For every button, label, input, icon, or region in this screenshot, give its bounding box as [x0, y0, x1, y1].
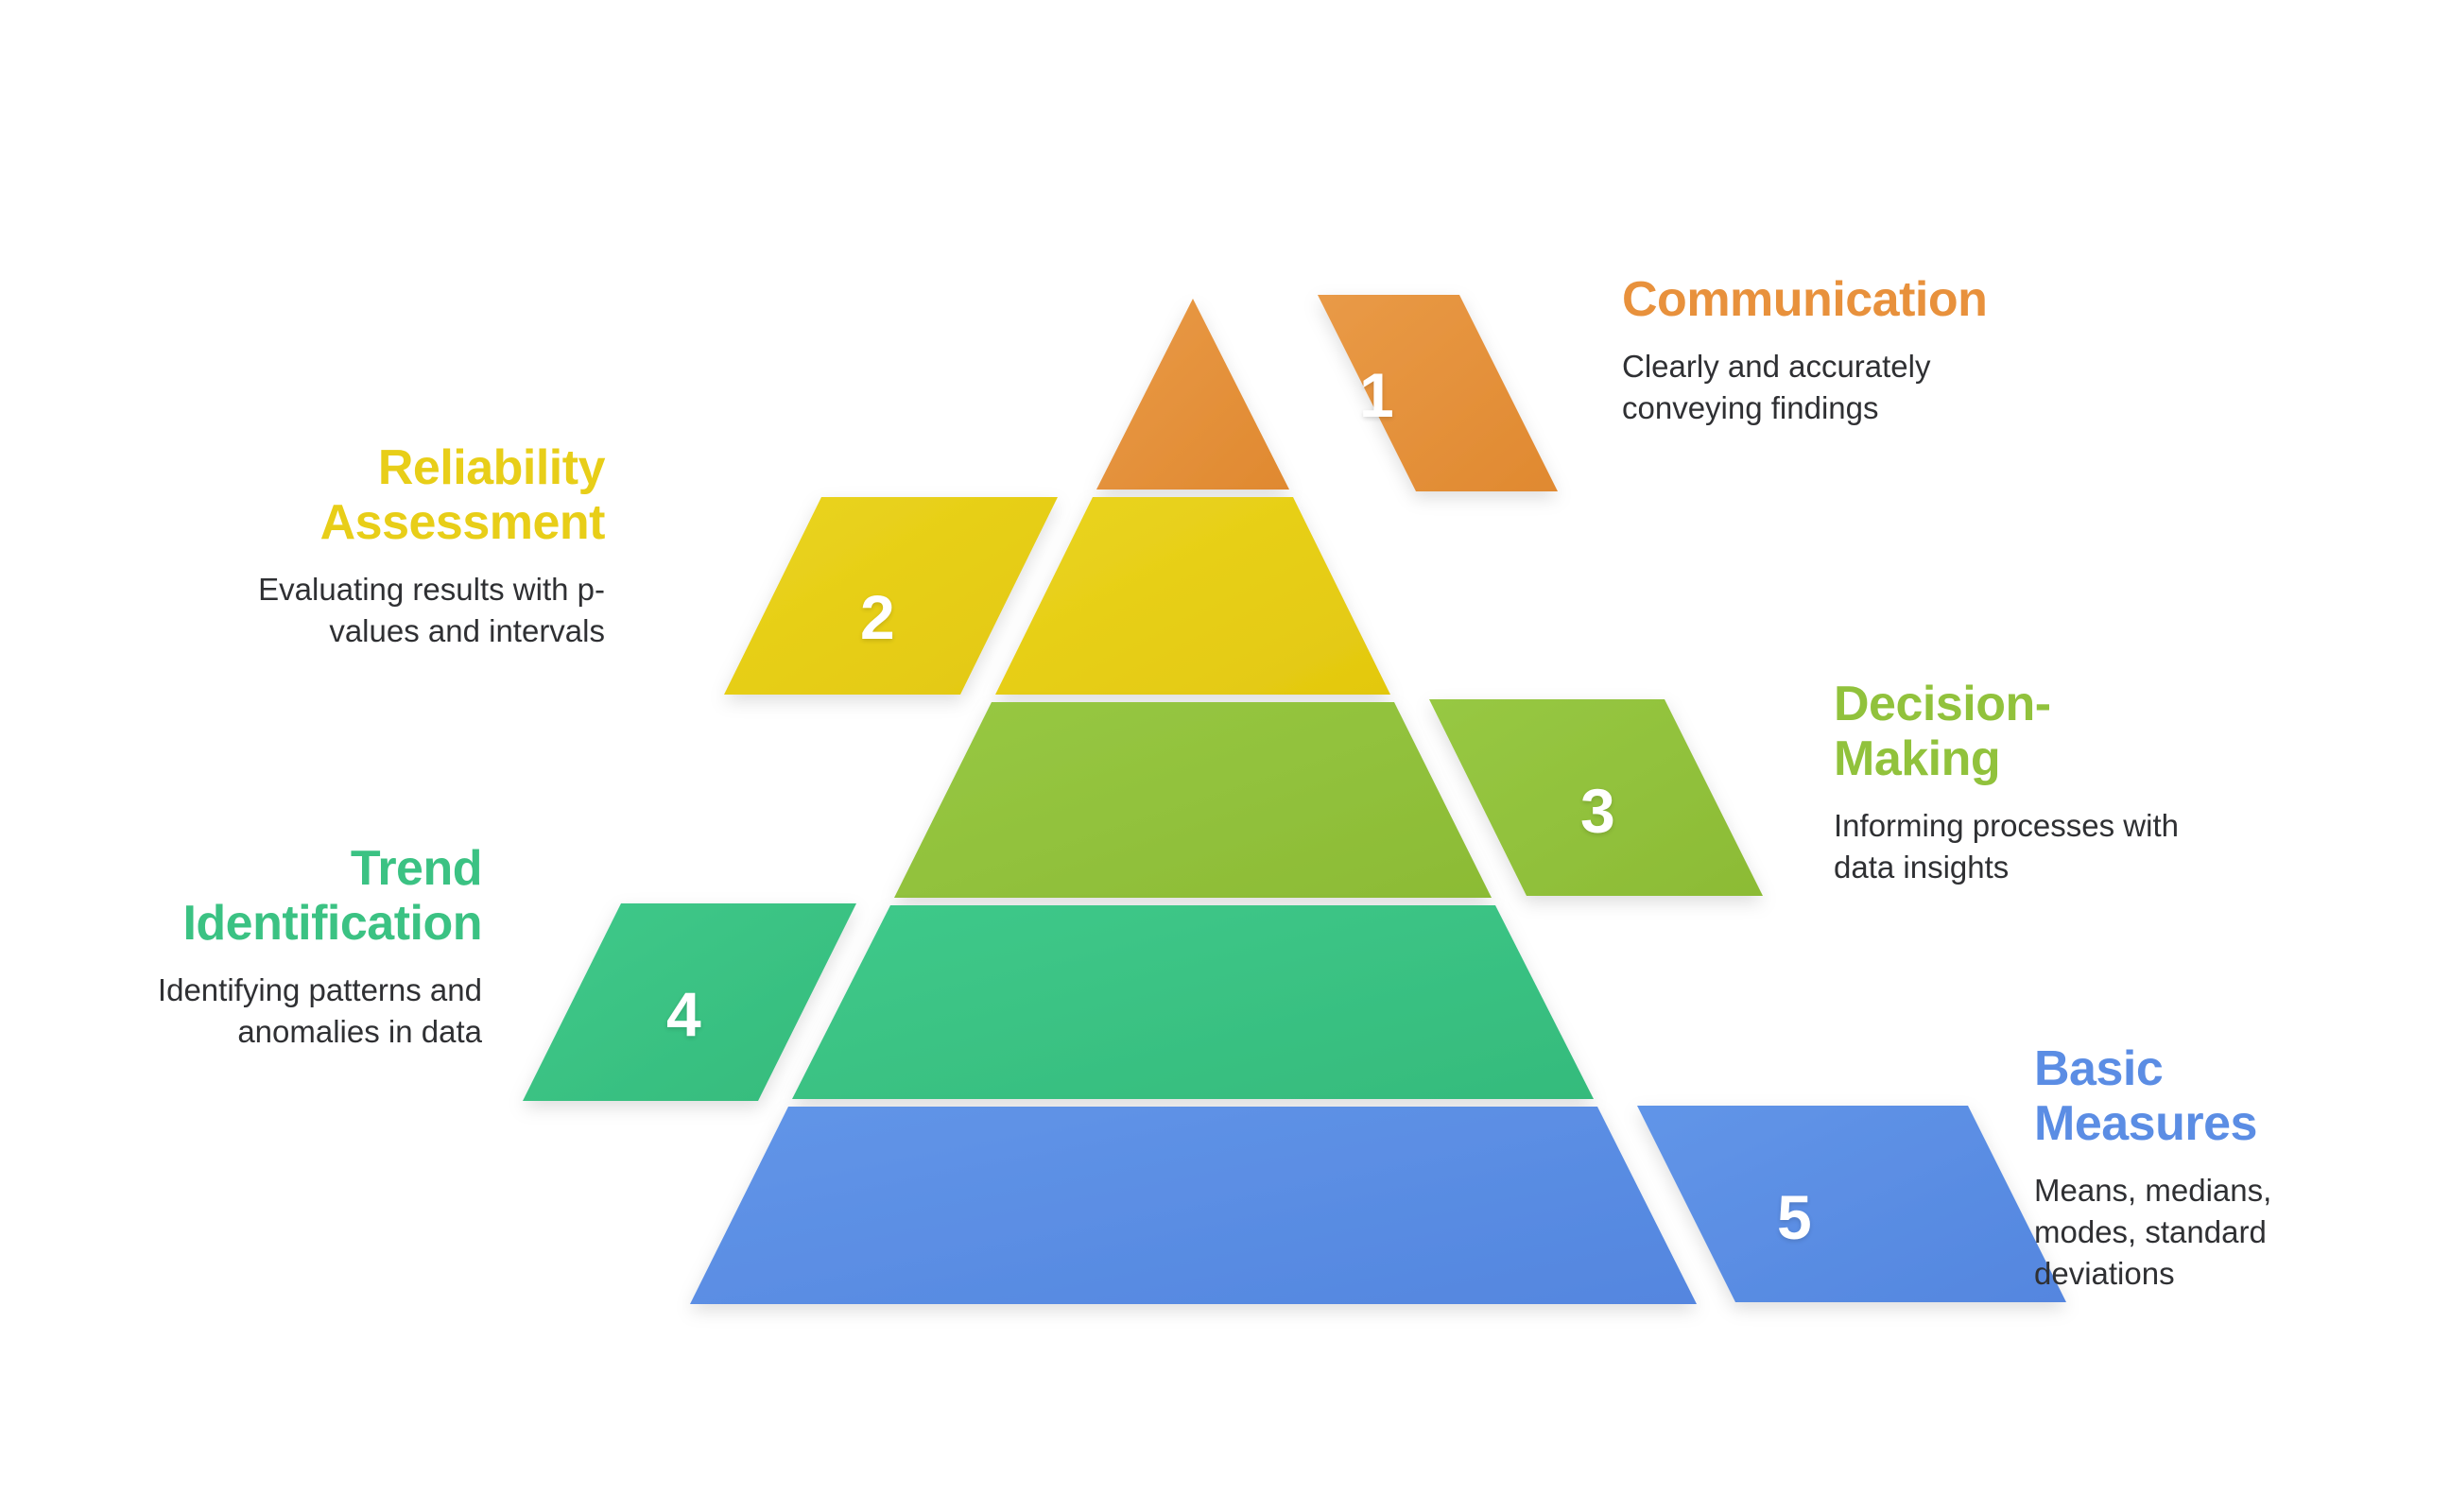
callout-title-1: Communication — [1622, 272, 2028, 327]
callout-description-4: Identifying patterns and anomalies in da… — [112, 970, 482, 1052]
callout-shape-1[interactable] — [1318, 295, 1558, 491]
callout-description-5: Means, medians, modes, standard deviatio… — [2034, 1170, 2346, 1294]
step-number-5: 5 — [1777, 1186, 1812, 1248]
pyramid-slice-2 — [995, 497, 1390, 695]
callout-shape-5[interactable] — [1637, 1106, 2066, 1302]
callout-communication: Communication Clearly and accurately con… — [1622, 272, 2028, 428]
callout-basic-measures: Basic Measures Means, medians, modes, st… — [2034, 1041, 2346, 1294]
step-number-2: 2 — [860, 586, 895, 648]
callout-title-2: Reliability Assessment — [198, 440, 605, 550]
callout-title-5: Basic Measures — [2034, 1041, 2346, 1151]
callout-trend-identification: Trend Identification Identifying pattern… — [112, 841, 482, 1053]
step-number-4: 4 — [666, 983, 701, 1045]
pyramid-slice-4 — [792, 905, 1594, 1099]
callout-title-4: Trend Identification — [112, 841, 482, 951]
callout-description-3: Informing processes with data insights — [1834, 805, 2212, 887]
callout-description-1: Clearly and accurately conveying finding… — [1622, 346, 2028, 428]
callout-description-2: Evaluating results with p-values and int… — [198, 569, 605, 651]
pyramid-slice-1 — [1096, 299, 1289, 490]
callout-decision-making: Decision-Making Informing processes with… — [1834, 677, 2212, 888]
callout-reliability-assessment: Reliability Assessment Evaluating result… — [198, 440, 605, 652]
step-number-3: 3 — [1580, 780, 1615, 842]
pyramid-diagram: 1 2 3 4 5 Communication Clearly and accu… — [0, 0, 2450, 1512]
pyramid-slice-5 — [690, 1107, 1697, 1304]
pyramid-slice-3 — [894, 702, 1492, 898]
step-number-1: 1 — [1359, 364, 1394, 426]
callout-title-3: Decision-Making — [1834, 677, 2212, 786]
